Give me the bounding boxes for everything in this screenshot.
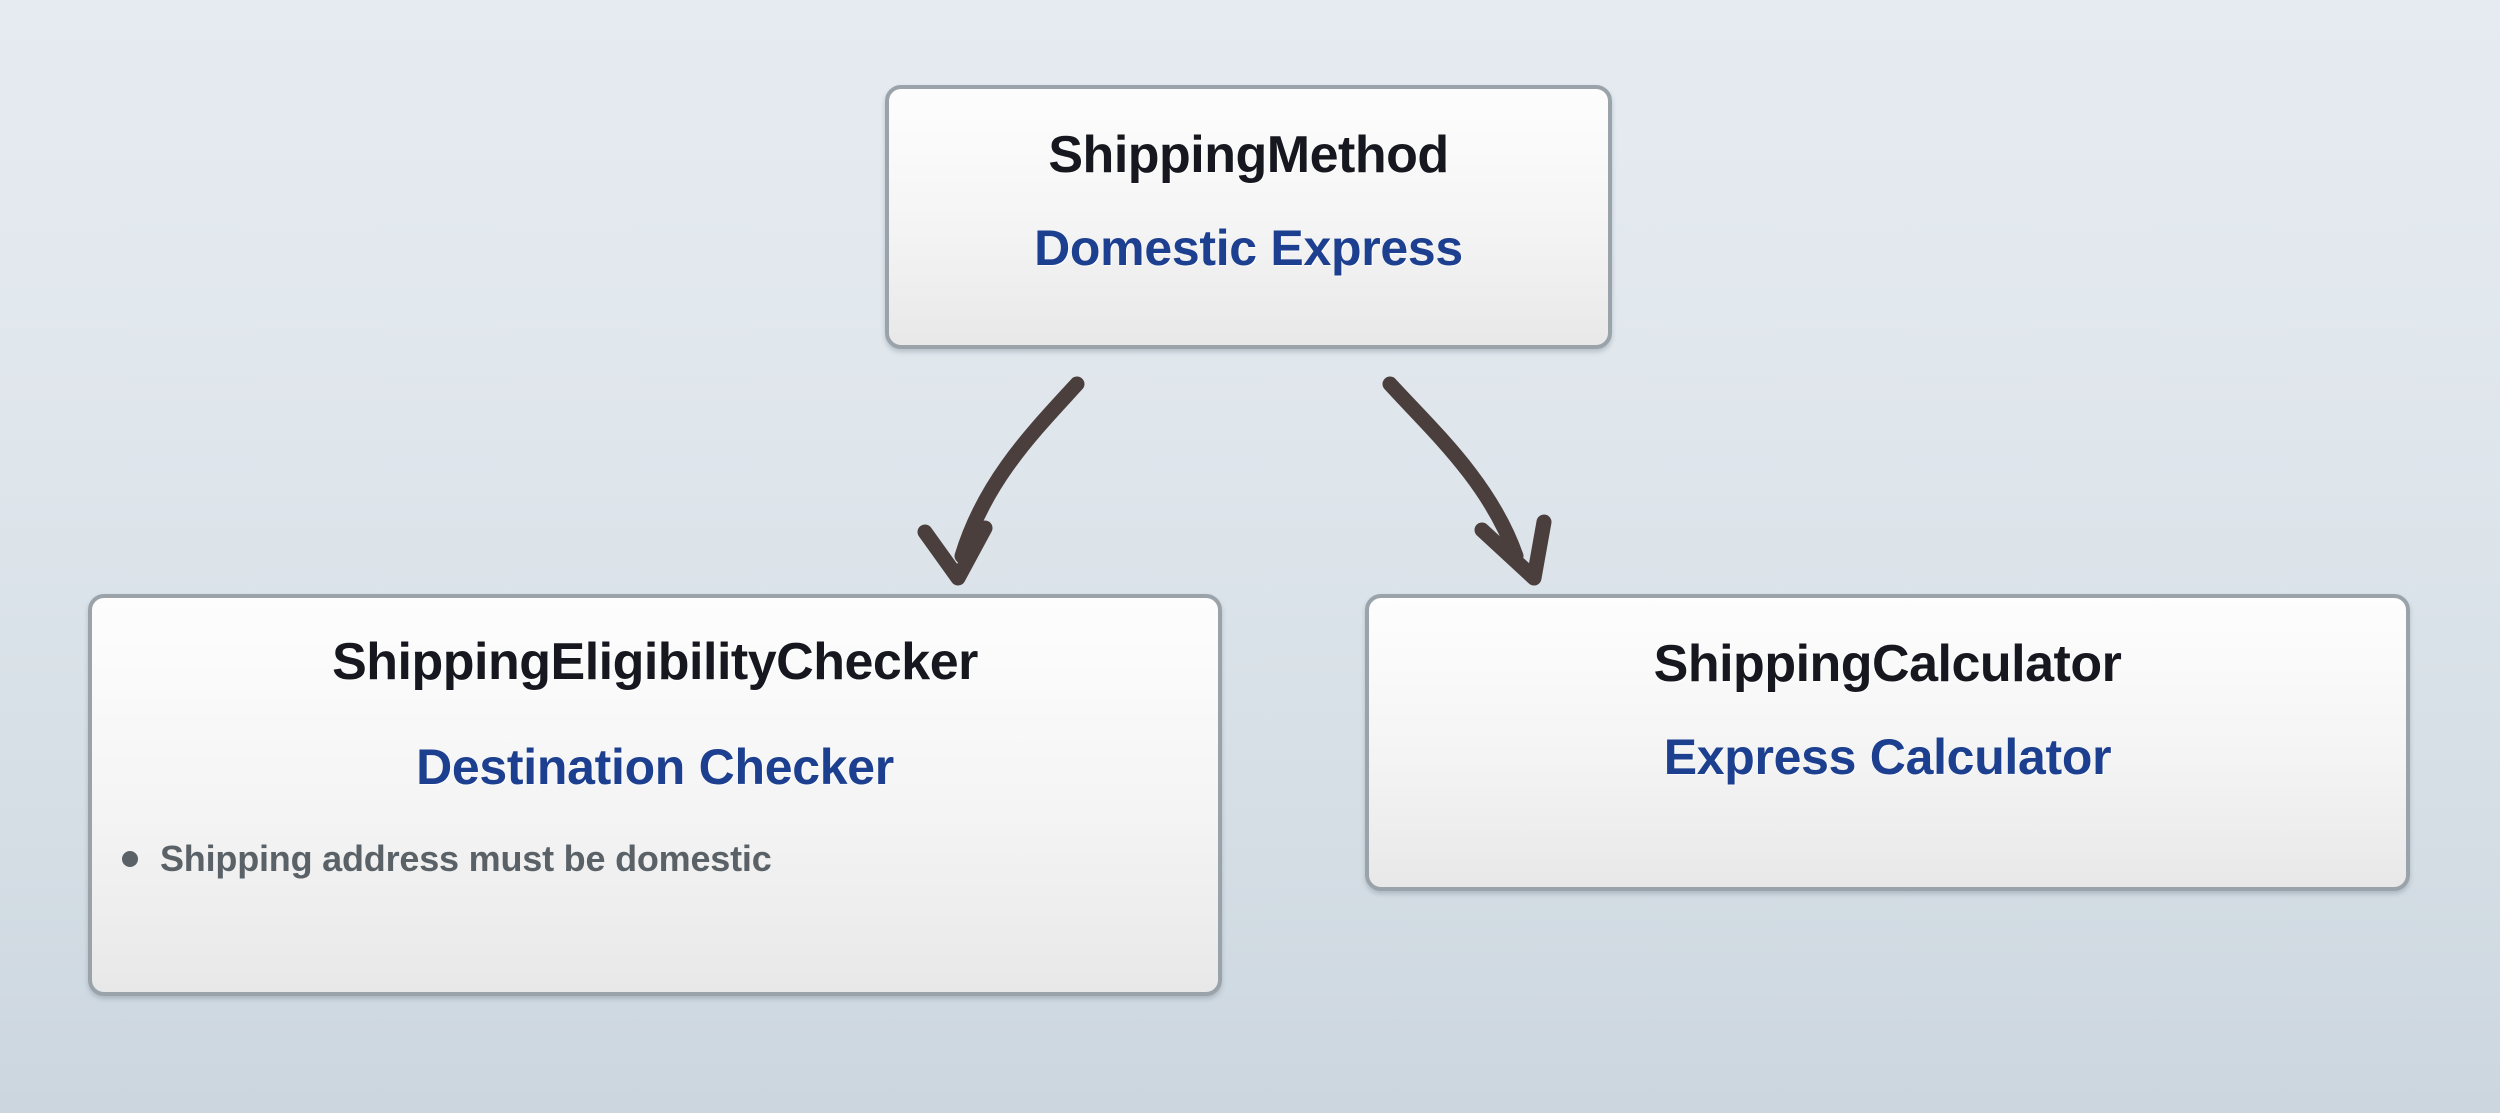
arrow-curve-right — [1390, 384, 1516, 556]
node-shipping-calculator[interactable]: ShippingCalculator Express Calculator — [1365, 594, 2410, 891]
node-rule-list: Shipping address must be domestic — [92, 838, 1218, 880]
node-shipping-eligibility-checker[interactable]: ShippingEligibilityChecker Destination C… — [88, 594, 1222, 996]
edge-root-to-eligibility-checker — [925, 384, 1077, 578]
node-subtitle: Destination Checker — [416, 738, 894, 796]
list-item: Shipping address must be domestic — [122, 838, 1218, 880]
arrow-curve-left — [962, 384, 1077, 556]
node-title: ShippingMethod — [1048, 125, 1448, 185]
node-subtitle: Domestic Express — [1034, 219, 1463, 277]
arrow-head-left — [925, 528, 985, 578]
node-title: ShippingEligibilityChecker — [332, 632, 978, 692]
rule-text: Shipping address must be domestic — [160, 838, 772, 880]
edge-root-to-shipping-calculator — [1390, 384, 1544, 578]
bullet-icon — [122, 851, 138, 867]
node-title: ShippingCalculator — [1654, 634, 2122, 694]
node-shipping-method[interactable]: ShippingMethod Domestic Express — [885, 85, 1612, 349]
diagram-canvas: ShippingMethod Domestic Express Shipping… — [0, 0, 2500, 1113]
arrow-head-right — [1482, 522, 1544, 578]
node-subtitle: Express Calculator — [1664, 728, 2112, 786]
